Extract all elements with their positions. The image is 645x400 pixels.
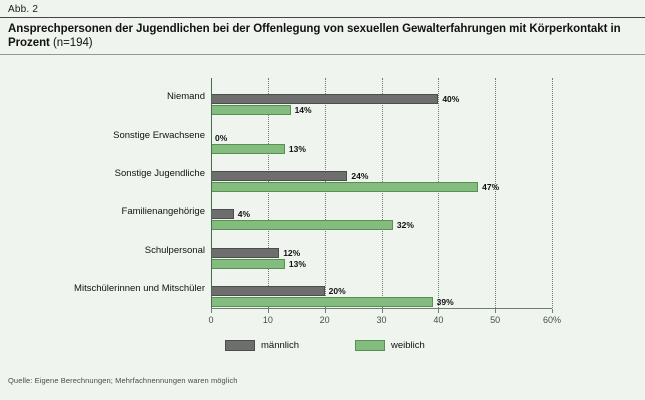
bar-value-label: 12% xyxy=(283,248,300,258)
x-axis-ticks: 0102030405060% xyxy=(211,309,552,329)
bar-weiblich-familienangeh-rige xyxy=(211,220,393,230)
category-label: Niemand xyxy=(5,86,205,108)
x-tick-label: 20 xyxy=(320,315,330,325)
category-label: Mitschülerinnen und Mitschüler xyxy=(5,278,205,300)
category-label-wrap: Mitschülerinnen und Mitschüler xyxy=(0,278,205,300)
legend-swatch-icon xyxy=(225,340,255,351)
legend-label: weiblich xyxy=(391,340,425,351)
bar-value-label: 4% xyxy=(238,209,250,219)
bar-weiblich-mitsch-lerinnen-und-mitsch-ler xyxy=(211,297,433,307)
bar-row: 20%39% xyxy=(211,286,552,308)
bar-row: 4%32% xyxy=(211,209,552,231)
legend-label: männlich xyxy=(261,340,299,351)
bar-row: 24%47% xyxy=(211,171,552,193)
x-tick-mark-50 xyxy=(495,309,496,313)
x-tick-mark-40 xyxy=(438,309,439,313)
x-tick-label: 0 xyxy=(208,315,213,325)
bar-value-label: 32% xyxy=(397,220,414,230)
chart-legend: männlichweiblich xyxy=(0,338,645,356)
bar-weiblich-sonstige-erwachsene xyxy=(211,144,285,154)
bar-value-label: 40% xyxy=(442,94,459,104)
x-tick-mark-60 xyxy=(552,309,553,313)
page-title: Ansprechpersonen der Jugendlichen bei de… xyxy=(0,18,645,54)
x-tick-label: 60% xyxy=(543,315,561,325)
category-label-wrap: Schulpersonal xyxy=(0,240,205,262)
bar-row: 40%14% xyxy=(211,94,552,116)
bar-value-label: 13% xyxy=(289,259,306,269)
category-label: Schulpersonal xyxy=(5,240,205,262)
gridline-60 xyxy=(552,78,553,308)
bar-chart: 40%14%0%13%24%47%4%32%12%13%20%39% 01020… xyxy=(0,70,645,330)
x-tick-mark-20 xyxy=(325,309,326,313)
bar-männlich-schulpersonal xyxy=(211,248,279,258)
bar-männlich-niemand xyxy=(211,94,438,104)
figure-number: Abb. 2 xyxy=(0,0,645,17)
source-note: Quelle: Eigene Berechnungen; Mehrfachnen… xyxy=(8,376,237,385)
category-label-wrap: Sonstige Erwachsene xyxy=(0,125,205,147)
category-label-wrap: Familienangehörige xyxy=(0,201,205,223)
bar-weiblich-niemand xyxy=(211,105,291,115)
x-tick-label: 50 xyxy=(490,315,500,325)
bar-row: 0%13% xyxy=(211,133,552,155)
plot-area: 40%14%0%13%24%47%4%32%12%13%20%39% xyxy=(211,78,552,308)
legend-swatch-icon xyxy=(355,340,385,351)
category-label: Familienangehörige xyxy=(5,201,205,223)
legend-item-männlich[interactable]: männlich xyxy=(225,338,299,352)
bar-weiblich-sonstige-jugendliche xyxy=(211,182,478,192)
category-label-wrap: Sonstige Jugendliche xyxy=(0,163,205,185)
bar-value-label: 39% xyxy=(437,297,454,307)
category-label: Sonstige Erwachsene xyxy=(5,125,205,147)
x-tick-label: 30 xyxy=(376,315,386,325)
x-tick-label: 10 xyxy=(263,315,273,325)
title-main-text: Ansprechpersonen der Jugendlichen bei de… xyxy=(8,23,621,49)
x-tick-mark-10 xyxy=(268,309,269,313)
category-label: Sonstige Jugendliche xyxy=(5,163,205,185)
bar-value-label: 0% xyxy=(215,133,227,143)
header-divider-bottom xyxy=(0,54,645,55)
category-label-wrap: Niemand xyxy=(0,86,205,108)
x-tick-mark-30 xyxy=(382,309,383,313)
bar-value-label: 47% xyxy=(482,182,499,192)
x-tick-label: 40 xyxy=(433,315,443,325)
title-sample-size: (n=194) xyxy=(53,37,93,49)
x-tick-mark-0 xyxy=(211,309,212,313)
bar-value-label: 13% xyxy=(289,144,306,154)
figure-header: Abb. 2 Ansprechpersonen der Jugendlichen… xyxy=(0,0,645,55)
bar-männlich-sonstige-jugendliche xyxy=(211,171,347,181)
legend-item-weiblich[interactable]: weiblich xyxy=(355,338,425,352)
bar-männlich-mitsch-lerinnen-und-mitsch-ler xyxy=(211,286,325,296)
figure-page: Abb. 2 Ansprechpersonen der Jugendlichen… xyxy=(0,0,645,400)
bar-value-label: 24% xyxy=(351,171,368,181)
y-axis-line xyxy=(211,78,212,308)
bar-row: 12%13% xyxy=(211,248,552,270)
bar-value-label: 20% xyxy=(329,286,346,296)
bar-männlich-familienangeh-rige xyxy=(211,209,234,219)
bar-value-label: 14% xyxy=(295,105,312,115)
bar-weiblich-schulpersonal xyxy=(211,259,285,269)
